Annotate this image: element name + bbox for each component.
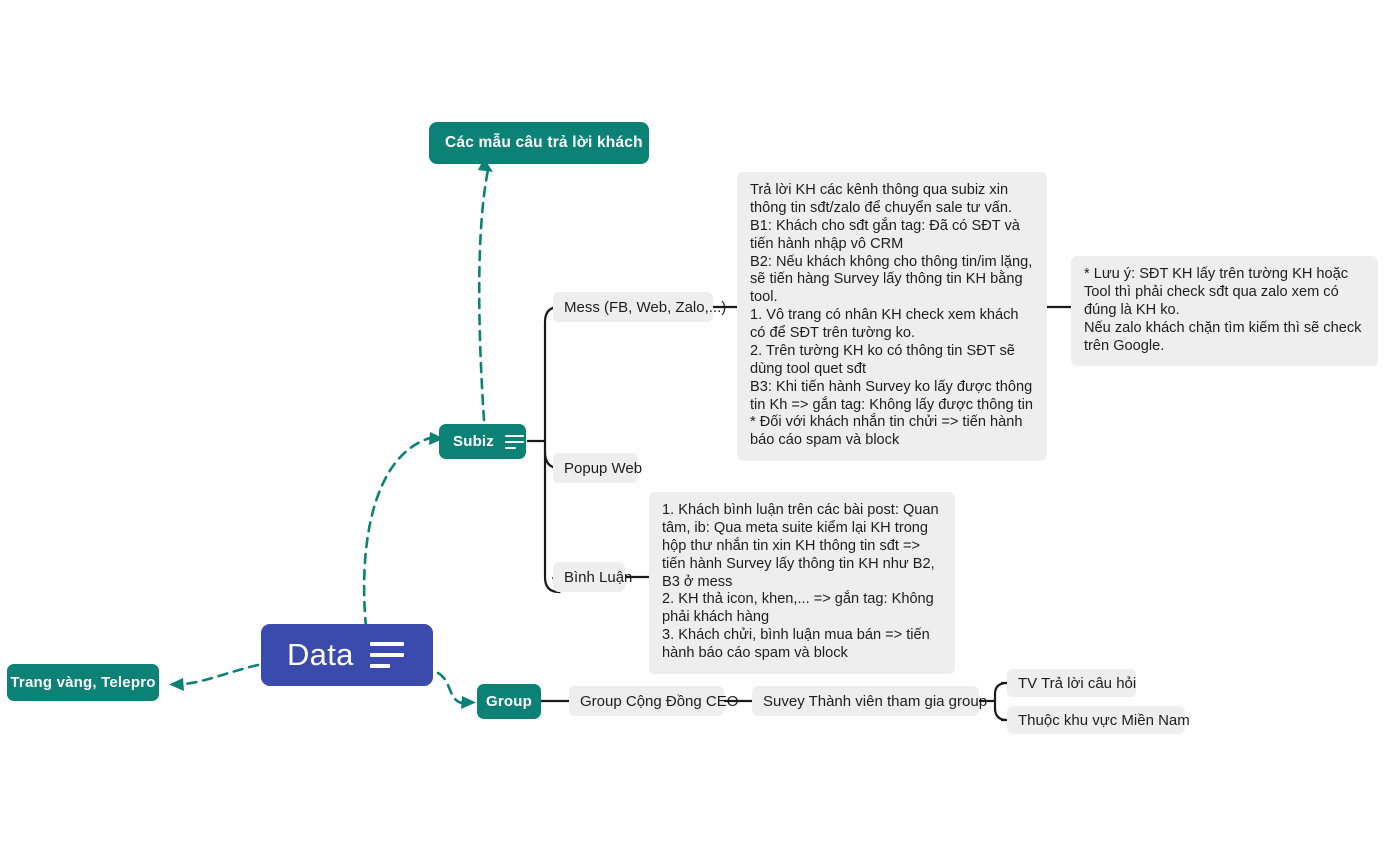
arrowhead-group xyxy=(461,696,476,709)
branch-templates-label: Các mẫu câu trả lời khách xyxy=(445,134,643,152)
node-suvey-thanh-vien[interactable]: Suvey Thành viên tham gia group xyxy=(752,686,979,716)
branch-node-group[interactable]: Group xyxy=(477,684,541,719)
note-mess[interactable]: Trả lời KH các kênh thông qua subiz xin … xyxy=(737,172,1047,461)
arrowhead-trangvang xyxy=(169,678,184,691)
node-mess[interactable]: Mess (FB, Web, Zalo,...) xyxy=(553,292,713,322)
branch-node-trangvang[interactable]: Trang vàng, Telepro xyxy=(7,664,159,701)
node-popup-web[interactable]: Popup Web xyxy=(553,453,638,483)
link-leaf-mien-nam xyxy=(995,708,1007,720)
note-luu-y[interactable]: * Lưu ý: SĐT KH lấy trên tường KH hoặc T… xyxy=(1071,256,1378,366)
list-icon xyxy=(370,642,404,668)
root-label: Data xyxy=(287,637,354,673)
dashed-link-data-trangvang xyxy=(184,665,258,684)
node-mess-label: Mess (FB, Web, Zalo,...) xyxy=(564,299,726,316)
link-leaf-tv xyxy=(995,683,1007,694)
list-icon xyxy=(505,435,524,449)
node-binh-luan-label: Bình Luận xyxy=(564,569,632,586)
branch-node-templates[interactable]: Các mẫu câu trả lời khách xyxy=(429,122,649,164)
node-popup-web-label: Popup Web xyxy=(564,460,642,477)
branch-trangvang-label: Trang vàng, Telepro xyxy=(10,674,155,691)
node-group-cong-dong-ceo-label: Group Cộng Đồng CEO xyxy=(580,693,738,710)
note-binh-luan[interactable]: 1. Khách bình luận trên các bài post: Qu… xyxy=(649,492,955,674)
root-node-data[interactable]: Data xyxy=(261,624,433,686)
node-binh-luan[interactable]: Bình Luận xyxy=(553,562,625,592)
node-tv-tra-loi-cau-hoi-label: TV Trả lời câu hỏi xyxy=(1018,675,1136,692)
dashed-link-data-group xyxy=(438,673,462,703)
branch-subiz-label: Subiz xyxy=(453,433,494,450)
node-tv-tra-loi-cau-hoi[interactable]: TV Trả lời câu hỏi xyxy=(1007,669,1136,697)
dashed-link-data-subiz xyxy=(364,438,430,627)
node-thuoc-khu-vuc-mien-nam[interactable]: Thuộc khu vực Miền Nam xyxy=(1007,706,1185,734)
branch-node-subiz[interactable]: Subiz xyxy=(439,424,526,459)
dashed-link-subiz-templates xyxy=(479,170,488,420)
node-group-cong-dong-ceo[interactable]: Group Cộng Đồng CEO xyxy=(569,686,724,716)
node-thuoc-khu-vuc-mien-nam-label: Thuộc khu vực Miền Nam xyxy=(1018,712,1190,729)
branch-group-label: Group xyxy=(486,693,532,710)
node-suvey-thanh-vien-label: Suvey Thành viên tham gia group xyxy=(763,693,987,710)
list-icon xyxy=(654,136,673,150)
mindmap-canvas: Data Các mẫu câu trả lời khách Subiz Gro… xyxy=(0,0,1386,858)
